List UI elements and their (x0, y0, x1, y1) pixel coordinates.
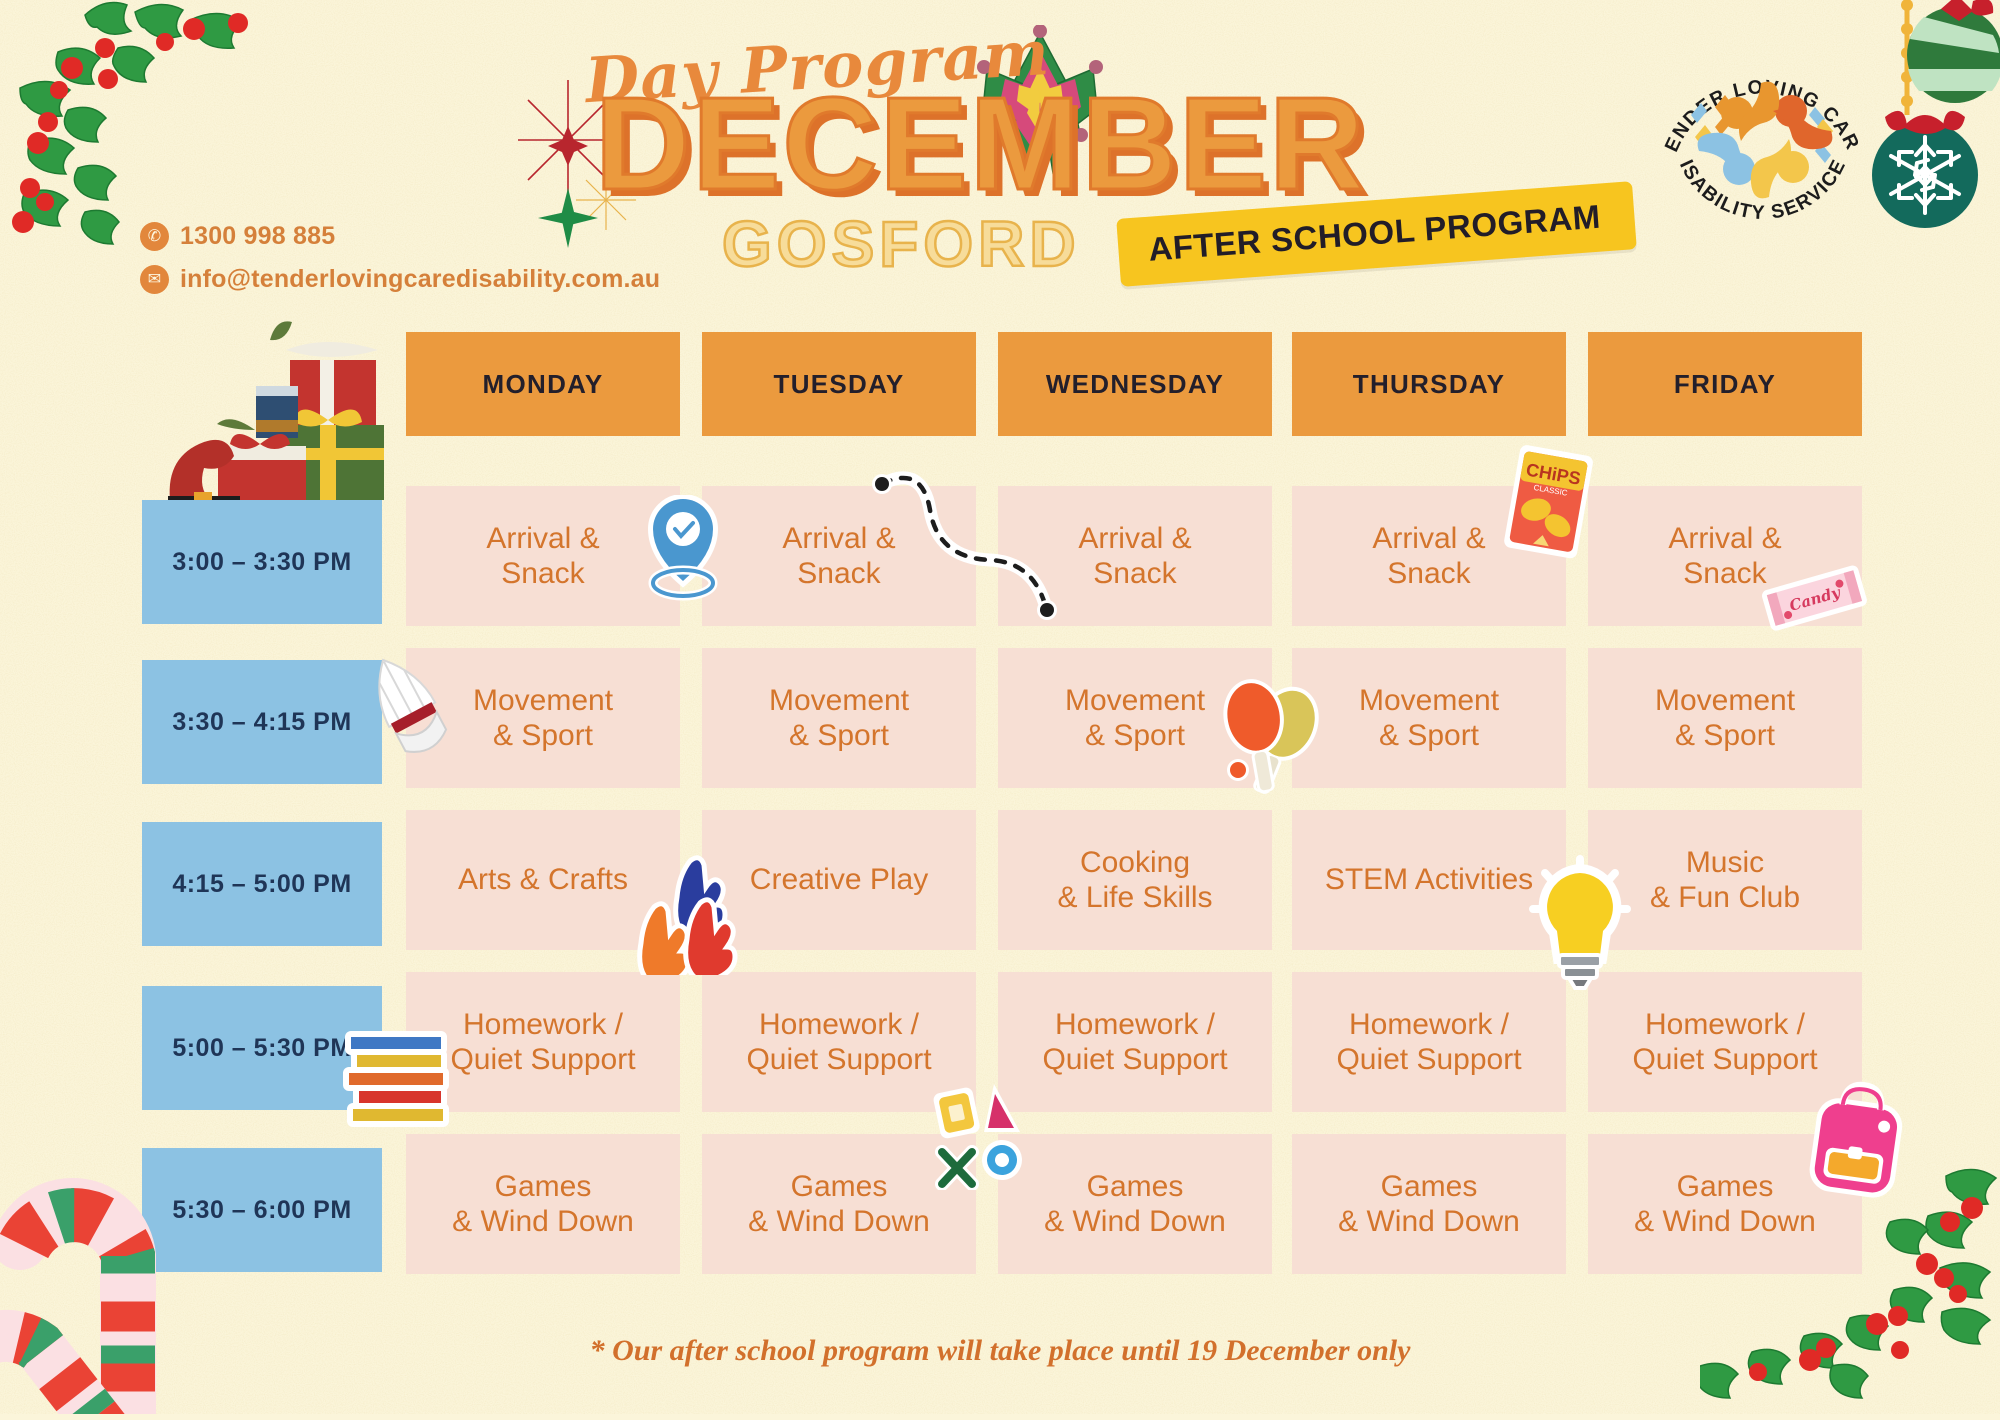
activity-cell-3-0: Homework /Quiet Support (406, 972, 680, 1112)
activity-label: Arrival &Snack (1078, 521, 1191, 592)
time-slot-label: 3:00 – 3:30 PM (172, 548, 351, 577)
activity-label: Homework /Quiet Support (1336, 1007, 1521, 1078)
email-row[interactable]: ✉ info@tenderlovingcaredisability.com.au (140, 265, 660, 294)
activity-label: Games& Wind Down (748, 1169, 930, 1240)
activity-label: Homework /Quiet Support (450, 1007, 635, 1078)
activity-label: Homework /Quiet Support (746, 1007, 931, 1078)
time-slot-label: 4:15 – 5:00 PM (172, 870, 351, 899)
day-header-2: WEDNESDAY (998, 332, 1272, 436)
email-address: info@tenderlovingcaredisability.com.au (180, 265, 660, 294)
day-header-label: THURSDAY (1353, 369, 1505, 400)
activity-cell-4-2: Games& Wind Down (998, 1134, 1272, 1274)
activity-cell-3-4: Homework /Quiet Support (1588, 972, 1862, 1112)
company-logo: TENDER LOVING CARE DISABILITY SERVICES (1655, 45, 1870, 260)
day-header-label: MONDAY (483, 369, 604, 400)
activity-label: Movement& Sport (1065, 683, 1205, 754)
activity-cell-1-4: Movement& Sport (1588, 648, 1862, 788)
activity-label: Movement& Sport (1655, 683, 1795, 754)
activity-label: Homework /Quiet Support (1042, 1007, 1227, 1078)
activity-cell-4-3: Games& Wind Down (1292, 1134, 1566, 1274)
activity-cell-3-3: Homework /Quiet Support (1292, 972, 1566, 1112)
phone-number: 1300 998 885 (180, 222, 335, 251)
time-slot-0: 3:00 – 3:30 PM (142, 500, 382, 624)
day-header-label: WEDNESDAY (1046, 369, 1224, 400)
activity-label: Arts & Crafts (458, 862, 628, 897)
footnote: * Our after school program will take pla… (0, 1334, 2000, 1368)
envelope-icon: ✉ (140, 265, 169, 294)
activity-cell-0-0: Arrival &Snack (406, 486, 680, 626)
day-header-4: FRIDAY (1588, 332, 1862, 436)
time-slot-1: 3:30 – 4:15 PM (142, 660, 382, 784)
activity-cell-3-1: Homework /Quiet Support (702, 972, 976, 1112)
day-header-1: TUESDAY (702, 332, 976, 436)
contact-block: ✆ 1300 998 885 ✉ info@tenderlovingcaredi… (140, 222, 660, 308)
activity-cell-0-1: Arrival &Snack (702, 486, 976, 626)
activity-label: Games& Wind Down (1338, 1169, 1520, 1240)
activity-cell-0-3: Arrival &Snack (1292, 486, 1566, 626)
activity-label: Creative Play (750, 862, 928, 897)
activity-label: Movement& Sport (473, 683, 613, 754)
time-slot-2: 4:15 – 5:00 PM (142, 822, 382, 946)
activity-cell-1-2: Movement& Sport (998, 648, 1272, 788)
activity-cell-3-2: Homework /Quiet Support (998, 972, 1272, 1112)
time-slot-4: 5:30 – 6:00 PM (142, 1148, 382, 1272)
activity-cell-4-0: Games& Wind Down (406, 1134, 680, 1274)
activity-label: Movement& Sport (1359, 683, 1499, 754)
time-slot-label: 3:30 – 4:15 PM (172, 708, 351, 737)
activity-cell-2-4: Music& Fun Club (1588, 810, 1862, 950)
time-slot-3: 5:00 – 5:30 PM (142, 986, 382, 1110)
activity-label: Movement& Sport (769, 683, 909, 754)
footnote-text: * Our after school program will take pla… (590, 1334, 1411, 1367)
activity-label: Arrival &Snack (486, 521, 599, 592)
activity-label: STEM Activities (1325, 862, 1533, 897)
activity-label: Cooking& Life Skills (1057, 845, 1212, 916)
activity-cell-0-4: Arrival &Snack (1588, 486, 1862, 626)
activity-label: Arrival &Snack (782, 521, 895, 592)
activity-cell-0-2: Arrival &Snack (998, 486, 1272, 626)
day-header-0: MONDAY (406, 332, 680, 436)
activity-cell-2-3: STEM Activities (1292, 810, 1566, 950)
activity-label: Arrival &Snack (1372, 521, 1485, 592)
activity-cell-2-1: Creative Play (702, 810, 976, 950)
activity-label: Homework /Quiet Support (1632, 1007, 1817, 1078)
day-header-3: THURSDAY (1292, 332, 1566, 436)
activity-cell-4-4: Games& Wind Down (1588, 1134, 1862, 1274)
activity-cell-1-0: Movement& Sport (406, 648, 680, 788)
activity-cell-2-2: Cooking& Life Skills (998, 810, 1272, 950)
phone-icon: ✆ (140, 222, 169, 251)
activity-label: Games& Wind Down (1634, 1169, 1816, 1240)
activity-cell-1-3: Movement& Sport (1292, 648, 1566, 788)
activity-label: Games& Wind Down (1044, 1169, 1226, 1240)
day-header-label: FRIDAY (1674, 369, 1776, 400)
activity-cell-1-1: Movement& Sport (702, 648, 976, 788)
activity-label: Games& Wind Down (452, 1169, 634, 1240)
day-header-label: TUESDAY (774, 369, 905, 400)
christmas-ornaments-top-right (1855, 0, 2000, 245)
time-slot-label: 5:00 – 5:30 PM (172, 1034, 351, 1063)
activity-cell-4-1: Games& Wind Down (702, 1134, 976, 1274)
activity-cell-2-0: Arts & Crafts (406, 810, 680, 950)
phone-row[interactable]: ✆ 1300 998 885 (140, 222, 660, 251)
activity-label: Music& Fun Club (1650, 845, 1800, 916)
time-slot-label: 5:30 – 6:00 PM (172, 1196, 351, 1225)
activity-label: Arrival &Snack (1668, 521, 1781, 592)
